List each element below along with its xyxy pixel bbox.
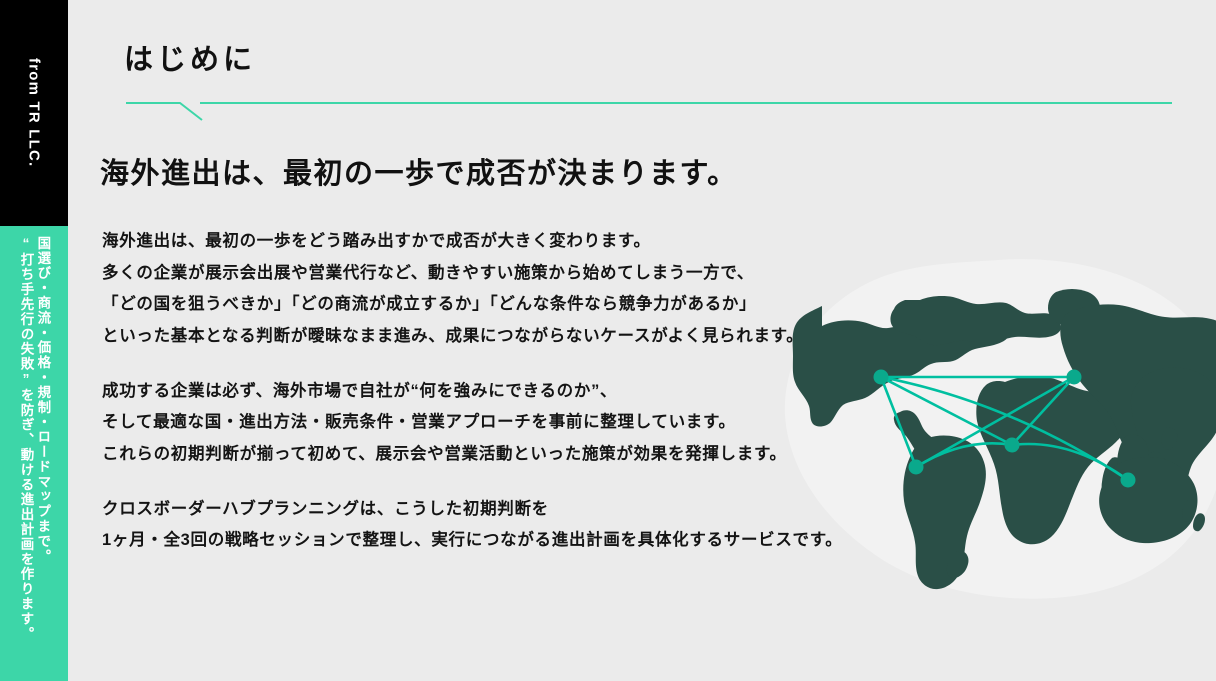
brand-label: from TR LLC. (0, 0, 68, 226)
body-line: 「どの国を狙うべきか」「どの商流が成立するか」「どんな条件なら競争力があるか」 (102, 289, 1002, 321)
paragraph-1: 海外進出は、最初の一歩をどう踏み出すかで成否が大きく変わります。 多くの企業が展… (102, 226, 1002, 353)
body-line: 海外進出は、最初の一歩をどう踏み出すかで成否が大きく変わります。 (102, 226, 1002, 258)
body-copy: 海外進出は、最初の一歩をどう踏み出すかで成否が大きく変わります。 多くの企業が展… (102, 226, 1002, 557)
rail-vertical-text-2: “打ち手先行の失敗”を防ぎ、動ける進出計画を作ります。 (18, 236, 34, 641)
map-node-africa (1005, 438, 1020, 453)
slide-root: from TR LLC. 国選び・商流・価格・規制・ロードマップまで。 “打ち手… (0, 0, 1216, 681)
body-line: そして最適な国・進出方法・販売条件・営業アプローチを事前に整理しています。 (102, 407, 1002, 439)
map-node-europe (1067, 370, 1082, 385)
body-line: これらの初期判断が揃って初めて、展示会や営業活動といった施策が効果を発揮します。 (102, 439, 1002, 471)
paragraph-3: クロスボーダーハブプランニングは、こうした初期判断を 1ヶ月・全3回の戦略セッシ… (102, 494, 1002, 557)
body-line: といった基本となる判断が曖昧なまま進み、成果につながらないケースがよく見られます… (102, 321, 1002, 353)
body-line: 1ヶ月・全3回の戦略セッションで整理し、実行につながる進出計画を具体化するサービ… (102, 525, 1002, 557)
lead-heading: 海外進出は、最初の一歩で成否が決まります。 (100, 150, 738, 192)
accent-divider (110, 88, 1175, 122)
rail-vertical-text-group: 国選び・商流・価格・規制・ロードマップまで。 “打ち手先行の失敗”を防ぎ、動ける… (0, 226, 68, 681)
body-line: 成功する企業は必ず、海外市場で自社が“何を強みにできるのか”、 (102, 376, 1002, 408)
body-line: 多くの企業が展示会出展や営業代行など、動きやすい施策から始めてしまう一方で、 (102, 258, 1002, 290)
left-rail: from TR LLC. 国選び・商流・価格・規制・ロードマップまで。 “打ち手… (0, 0, 68, 681)
map-node-oceania (1121, 473, 1136, 488)
body-line: クロスボーダーハブプランニングは、こうした初期判断を (102, 494, 1002, 526)
divider-zigzag-segment (126, 103, 202, 120)
section-eyebrow: はじめに (124, 36, 256, 78)
rail-vertical-text-1: 国選び・商流・価格・規制・ロードマップまで。 (35, 236, 51, 564)
paragraph-2: 成功する企業は必ず、海外市場で自社が“何を強みにできるのか”、 そして最適な国・… (102, 376, 1002, 471)
